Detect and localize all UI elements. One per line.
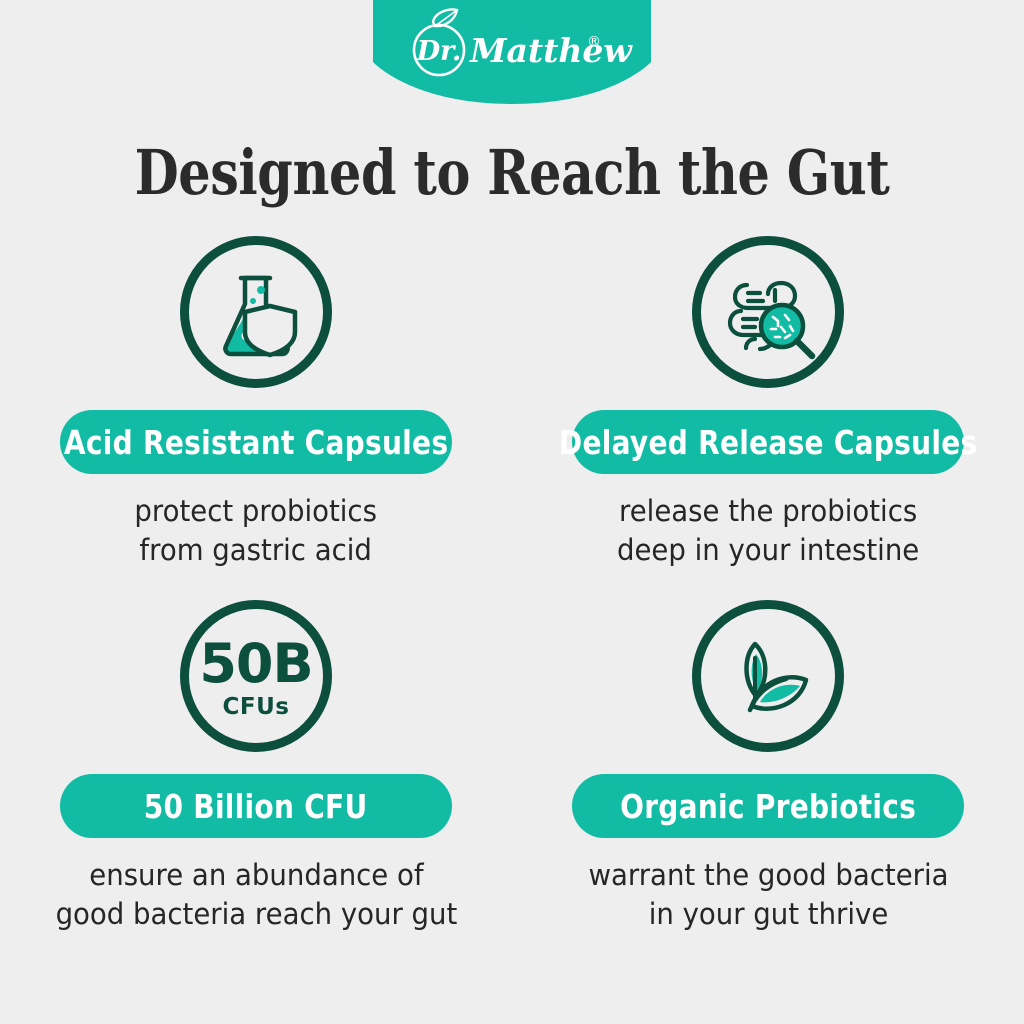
feature-label: Acid Resistant Capsules: [64, 423, 448, 462]
intestine-magnifier-icon: [692, 236, 844, 388]
feature-pill-organic-prebiotics[interactable]: Organic Prebiotics: [572, 774, 964, 838]
feature-description: ensure an abundance of good bacteria rea…: [55, 856, 457, 934]
brand-name: Matthew: [469, 31, 633, 70]
feature-pill-acid-resistant[interactable]: Acid Resistant Capsules: [60, 410, 452, 474]
feature-label: Organic Prebiotics: [620, 787, 916, 826]
registered-trademark-icon: ®: [587, 34, 601, 50]
feature-description: protect probiotics from gastric acid: [135, 492, 378, 570]
feature-description: warrant the good bacteria in your gut th…: [588, 856, 948, 934]
cfu-count-unit: CFUs: [223, 696, 290, 719]
flask-shield-icon: [180, 236, 332, 388]
feature-label: Delayed Release Capsules: [559, 423, 978, 462]
feature-card-cfu-count: 50B CFUs 50 Billion CFU ensure an abunda…: [0, 600, 512, 934]
page-title: Designed to Reach the Gut: [92, 136, 932, 209]
brand-prefix: Dr.: [416, 36, 462, 67]
feature-description: release the probiotics deep in your inte…: [617, 492, 919, 570]
feature-card-delayed-release: Delayed Release Capsules release the pro…: [512, 236, 1024, 570]
feature-grid: Acid Resistant Capsules protect probioti…: [0, 236, 1024, 935]
feature-card-acid-resistant: Acid Resistant Capsules protect probioti…: [0, 236, 512, 570]
feature-pill-cfu-count[interactable]: 50 Billion CFU: [60, 774, 452, 838]
feature-label: 50 Billion CFU: [144, 787, 368, 826]
cfu-count-icon: 50B CFUs: [180, 600, 332, 752]
feature-card-organic-prebiotics: Organic Prebiotics warrant the good bact…: [512, 600, 1024, 934]
feature-pill-delayed-release[interactable]: Delayed Release Capsules: [572, 410, 964, 474]
leaves-icon: [692, 600, 844, 752]
cfu-count-value: 50B: [199, 637, 312, 691]
brand-banner: Dr. Matthew ®: [373, 0, 651, 104]
